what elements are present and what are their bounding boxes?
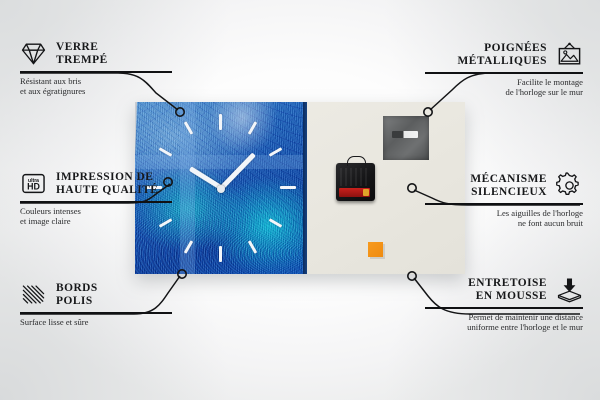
feature-title-line2: SILENCIEUX (470, 186, 547, 199)
feature-sub-line1: Couleurs intenses (20, 206, 172, 217)
gear-icon (556, 172, 583, 199)
feature-mecanisme-silencieux: MÉCANISME SILENCIEUX Les aiguilles de l'… (425, 172, 583, 229)
feature-sub-line2: et aux égratignures (20, 86, 172, 97)
feature-impression-haute-qualite: ultra HD IMPRESSION DE HAUTE QUALITÉ Cou… (20, 170, 172, 227)
feature-title-line1: VERRE (56, 41, 108, 54)
feature-sub-line1: Permet de maintenir une distance (425, 312, 583, 323)
feature-divider (20, 312, 172, 314)
marker-poignees (424, 108, 432, 116)
marker-verre-trempe (176, 108, 184, 116)
feature-sub-line1: Facilite le montage (425, 77, 583, 88)
feature-divider (425, 307, 583, 309)
feature-poignees-metalliques: POIGNÉES MÉTALLIQUES Facilite le montage… (425, 41, 583, 98)
picture-frame-hanging-icon (556, 41, 583, 68)
feature-title-line1: BORDS (56, 282, 98, 295)
feature-sub-line1: Les aiguilles de l'horloge (425, 208, 583, 219)
feature-title-line2: MÉTALLIQUES (458, 55, 547, 68)
feature-title-line1: ENTRETOISE (468, 277, 547, 290)
feature-title-line1: IMPRESSION DE (56, 171, 158, 184)
svg-text:HD: HD (27, 182, 40, 192)
feature-verre-trempe: VERRE TREMPÉ Résistant aux bris et aux é… (20, 40, 172, 97)
feature-divider (425, 72, 583, 74)
marker-entretoise (408, 272, 416, 280)
feature-title-line2: POLIS (56, 295, 98, 308)
feature-sub-line2: et image claire (20, 216, 172, 227)
feature-divider (20, 71, 172, 73)
feature-divider (20, 201, 172, 203)
feature-sub-line2: ne font aucun bruit (425, 218, 583, 229)
feature-title-line2: HAUTE QUALITÉ (56, 184, 158, 197)
infographic-canvas: VERRE TREMPÉ Résistant aux bris et aux é… (0, 0, 600, 400)
arrow-onto-pad-icon (556, 276, 583, 303)
feature-entretoise-en-mousse: ENTRETOISE EN MOUSSE Permet de maintenir… (425, 276, 583, 333)
feature-sub-line2: uniforme entre l'horloge et le mur (425, 322, 583, 333)
feature-bords-polis: BORDS POLIS Surface lisse et sûre (20, 281, 172, 327)
ultra-hd-badge-icon: ultra HD (20, 170, 47, 197)
marker-mecanisme (408, 184, 416, 192)
feature-title-line1: POIGNÉES (458, 42, 547, 55)
polished-edge-lines-icon (20, 281, 47, 308)
feature-sub-line2: de l'horloge sur le mur (425, 87, 583, 98)
marker-bords-polis (178, 270, 186, 278)
feature-divider (425, 203, 583, 205)
feature-title-line2: EN MOUSSE (468, 290, 547, 303)
feature-title-line2: TREMPÉ (56, 54, 108, 67)
feature-title-line1: MÉCANISME (470, 173, 547, 186)
feature-sub-line1: Résistant aux bris (20, 76, 172, 87)
feature-sub-line1: Surface lisse et sûre (20, 317, 172, 328)
diamond-icon (20, 40, 47, 67)
